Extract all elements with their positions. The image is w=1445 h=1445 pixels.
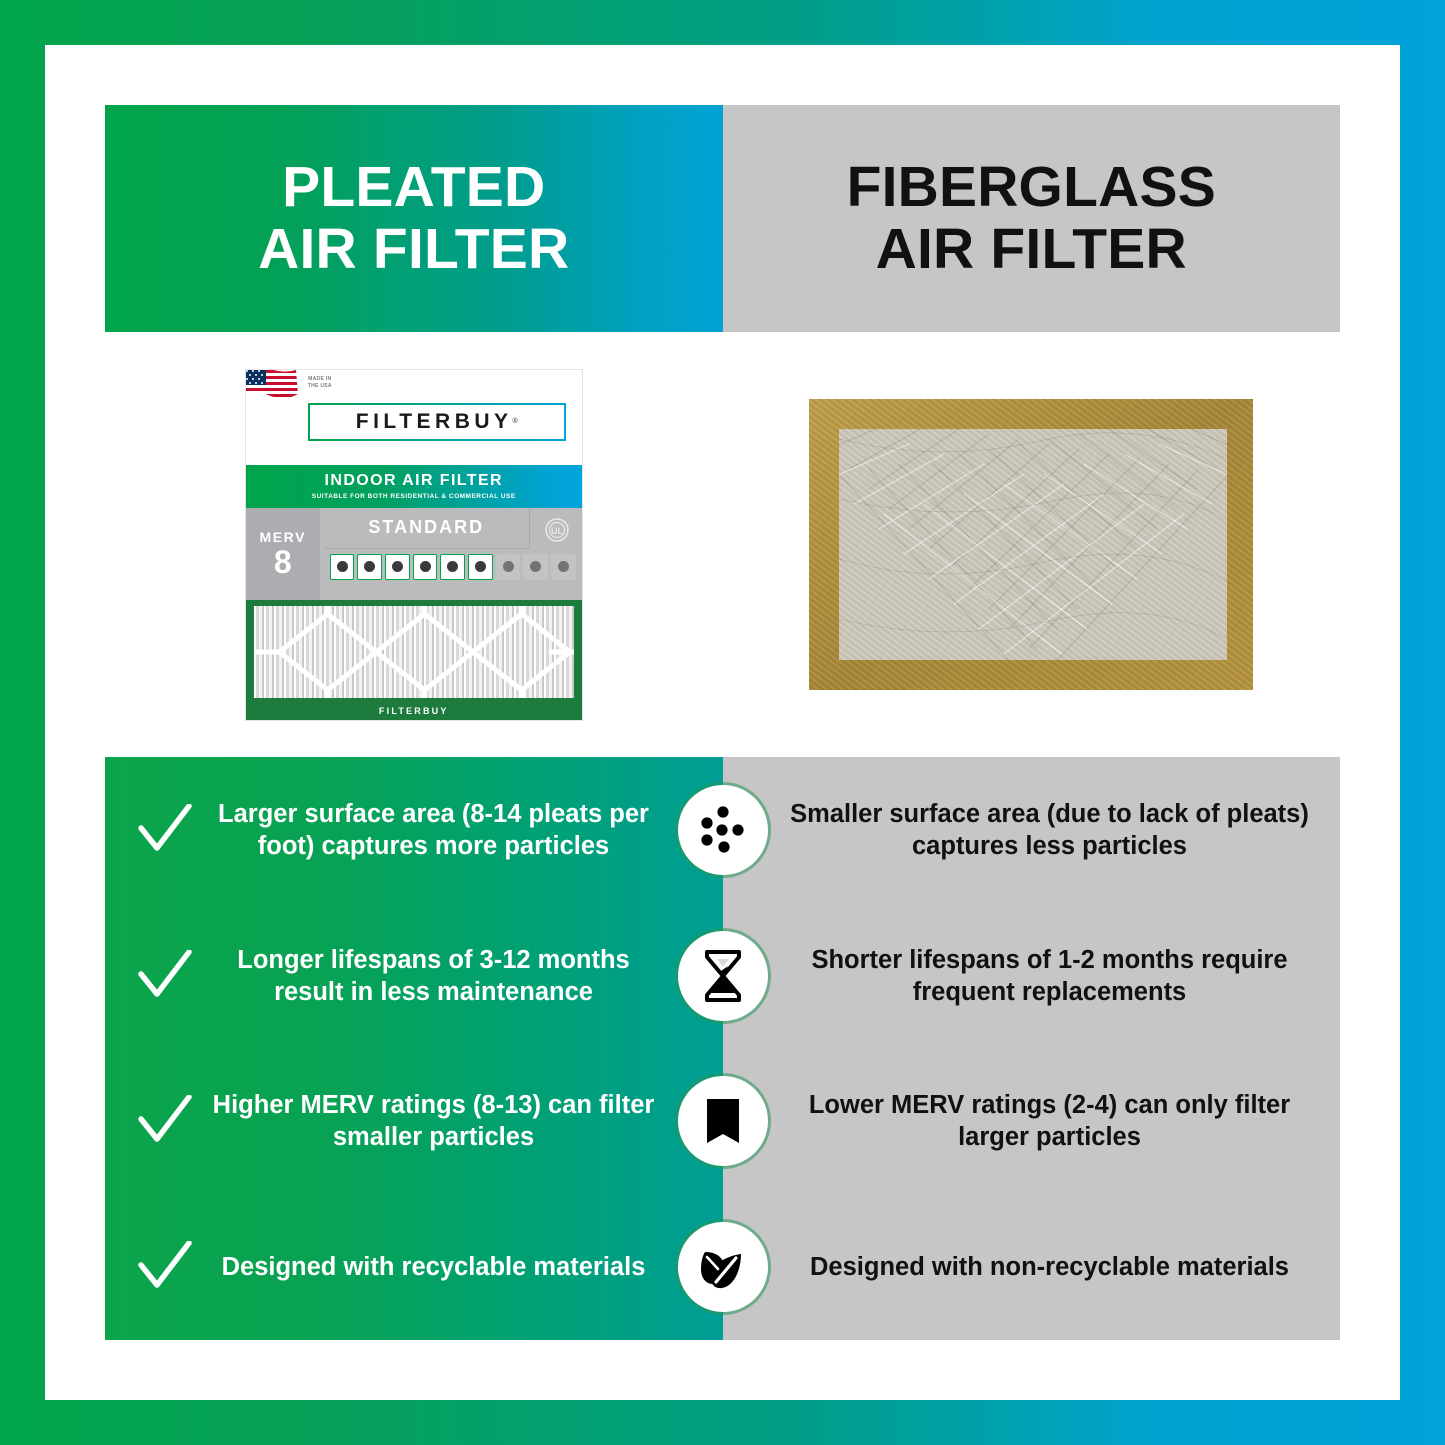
row-left-side: Larger surface area (8-14 pleats per foo… xyxy=(105,798,670,862)
checkmark-icon xyxy=(127,804,203,856)
grade-label: STANDARD xyxy=(368,517,484,538)
fiberglass-product-cell xyxy=(723,332,1341,757)
grade-block: STANDARD xyxy=(324,508,530,549)
header-fiberglass-line1: FIBERGLASS xyxy=(847,155,1216,219)
header-pleated-title: PLEATED AIR FILTER xyxy=(258,157,569,280)
header-fiberglass-line2: AIR FILTER xyxy=(876,217,1187,281)
dust-mites-icon xyxy=(413,554,438,580)
row-left-text: Designed with recyclable materials xyxy=(203,1251,670,1283)
comparison-row: Longer lifespans of 3-12 months result i… xyxy=(105,903,1340,1049)
trademark-symbol: ® xyxy=(513,418,518,425)
comparison-row: Designed with recyclable materials xyxy=(105,1194,1340,1340)
row-icon-slot xyxy=(670,1222,775,1312)
comparison-row: Larger surface area (8-14 pleats per foo… xyxy=(105,757,1340,903)
header-band: PLEATED AIR FILTER FIBERGLASS AIR FILTER xyxy=(105,105,1340,332)
header-fiberglass-title: FIBERGLASS AIR FILTER xyxy=(847,157,1216,280)
suitable-for-label: SUITABLE FOR BOTH RESIDENTIAL & COMMERCI… xyxy=(312,493,516,500)
row-left-side: Higher MERV ratings (8-13) can filter sm… xyxy=(105,1089,670,1153)
lint-icon xyxy=(440,554,465,580)
packaging-top-section: MADE IN THE USA FILTERBUY® xyxy=(246,370,582,465)
comparison-row: Higher MERV ratings (8-13) can filter sm… xyxy=(105,1049,1340,1195)
mold-icon xyxy=(385,554,410,580)
filterbuy-logo: FILTERBUY® xyxy=(308,403,566,441)
row-icon-slot xyxy=(670,785,775,875)
product-image-band: MADE IN THE USA FILTERBUY® INDOOR AIR FI… xyxy=(105,332,1340,757)
checkmark-icon xyxy=(127,950,203,1002)
merv-label: MERV xyxy=(259,529,306,545)
row-left-side: Longer lifespans of 3-12 months result i… xyxy=(105,944,670,1008)
ul-certification-icon: UL xyxy=(538,514,576,548)
pleated-filter-product-image: MADE IN THE USA FILTERBUY® INDOOR AIR FI… xyxy=(246,370,582,720)
made-in-line2: THE USA xyxy=(308,383,332,389)
row-left-text: Longer lifespans of 3-12 months result i… xyxy=(203,944,670,1008)
particles-icon xyxy=(678,785,768,875)
dust-icon xyxy=(330,554,355,580)
pet-dander-icon xyxy=(468,554,493,580)
pollen-icon xyxy=(357,554,382,580)
made-in-line1: MADE IN xyxy=(308,376,331,382)
bacteria-icon xyxy=(523,554,548,580)
row-left-text: Higher MERV ratings (8-13) can filter sm… xyxy=(203,1089,670,1153)
row-right-text: Smaller surface area (due to lack of ple… xyxy=(775,798,1340,862)
row-left-text: Larger surface area (8-14 pleats per foo… xyxy=(203,798,670,862)
row-right-text: Shorter lifespans of 1-2 months require … xyxy=(775,944,1340,1008)
infographic-sheet: PLEATED AIR FILTER FIBERGLASS AIR FILTER xyxy=(105,105,1340,1340)
row-right-text: Designed with non-recyclable materials xyxy=(775,1251,1340,1283)
bookmark-icon xyxy=(678,1076,768,1166)
packaging-footer-brand: FILTERBUY xyxy=(246,706,582,716)
indoor-air-filter-label: INDOOR AIR FILTER xyxy=(325,472,503,490)
merv-rating-block: MERV 8 xyxy=(246,508,320,600)
checkmark-icon xyxy=(127,1095,203,1147)
fiberglass-media xyxy=(839,429,1227,660)
fiberglass-filter-product-image xyxy=(809,399,1253,690)
filtration-capability-icons xyxy=(330,554,576,594)
smoke-icon xyxy=(496,554,521,580)
row-left-side: Designed with recyclable materials xyxy=(105,1241,670,1293)
header-pleated: PLEATED AIR FILTER xyxy=(105,105,723,332)
made-in-usa-label: MADE IN THE USA xyxy=(308,376,332,391)
filterbuy-wordmark: FILTERBUY xyxy=(356,410,513,434)
usa-flag-icon xyxy=(246,370,302,408)
wire-mesh-overlay xyxy=(254,606,574,698)
svg-text:UL: UL xyxy=(551,526,563,536)
leaf-icon xyxy=(678,1222,768,1312)
comparison-rows: Larger surface area (8-14 pleats per foo… xyxy=(105,757,1340,1340)
row-icon-slot xyxy=(670,931,775,1021)
packaging-colour-band: INDOOR AIR FILTER SUITABLE FOR BOTH RESI… xyxy=(246,465,582,508)
header-pleated-line2: AIR FILTER xyxy=(258,217,569,281)
header-fiberglass: FIBERGLASS AIR FILTER xyxy=(723,105,1341,332)
pleated-product-cell: MADE IN THE USA FILTERBUY® INDOOR AIR FI… xyxy=(105,332,723,757)
pleated-media-section: FILTERBUY xyxy=(246,600,582,720)
virus-icon xyxy=(551,554,576,580)
row-icon-slot xyxy=(670,1076,775,1166)
hourglass-icon xyxy=(678,931,768,1021)
infographic-frame: PLEATED AIR FILTER FIBERGLASS AIR FILTER xyxy=(45,45,1400,1400)
header-pleated-line1: PLEATED xyxy=(282,155,545,219)
packaging-spec-section: MERV 8 STANDARD UL xyxy=(246,508,582,600)
comparison-band: Larger surface area (8-14 pleats per foo… xyxy=(105,757,1340,1340)
row-right-text: Lower MERV ratings (2-4) can only filter… xyxy=(775,1089,1340,1153)
checkmark-icon xyxy=(127,1241,203,1293)
merv-value: 8 xyxy=(274,546,292,578)
